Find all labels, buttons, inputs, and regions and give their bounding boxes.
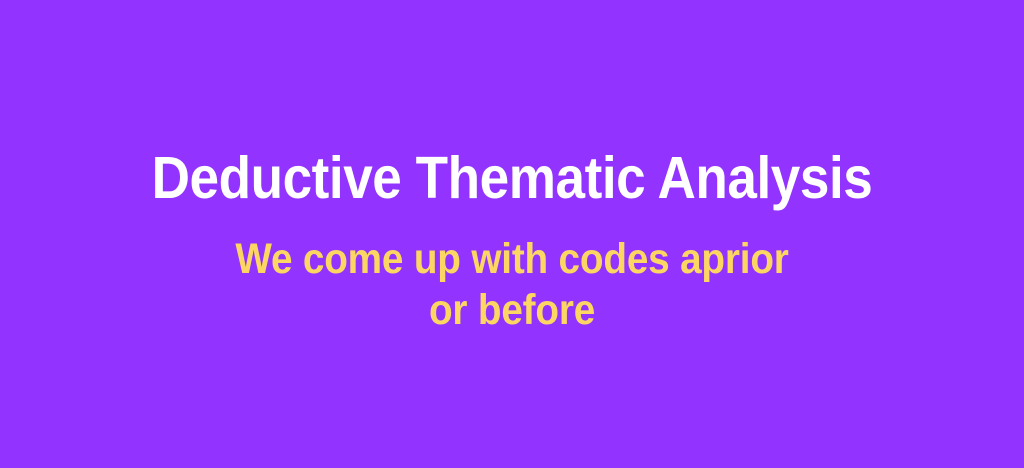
subtitle-block: We come up with codes aprior or before <box>0 234 1024 335</box>
page-title: Deductive Thematic Analysis <box>51 148 973 208</box>
title-block: Deductive Thematic Analysis <box>0 148 1024 208</box>
subtitle-line-1: We come up with codes aprior <box>51 234 973 285</box>
subtitle-line-2: or before <box>51 285 973 336</box>
slide-canvas: Deductive Thematic Analysis We come up w… <box>0 0 1024 468</box>
